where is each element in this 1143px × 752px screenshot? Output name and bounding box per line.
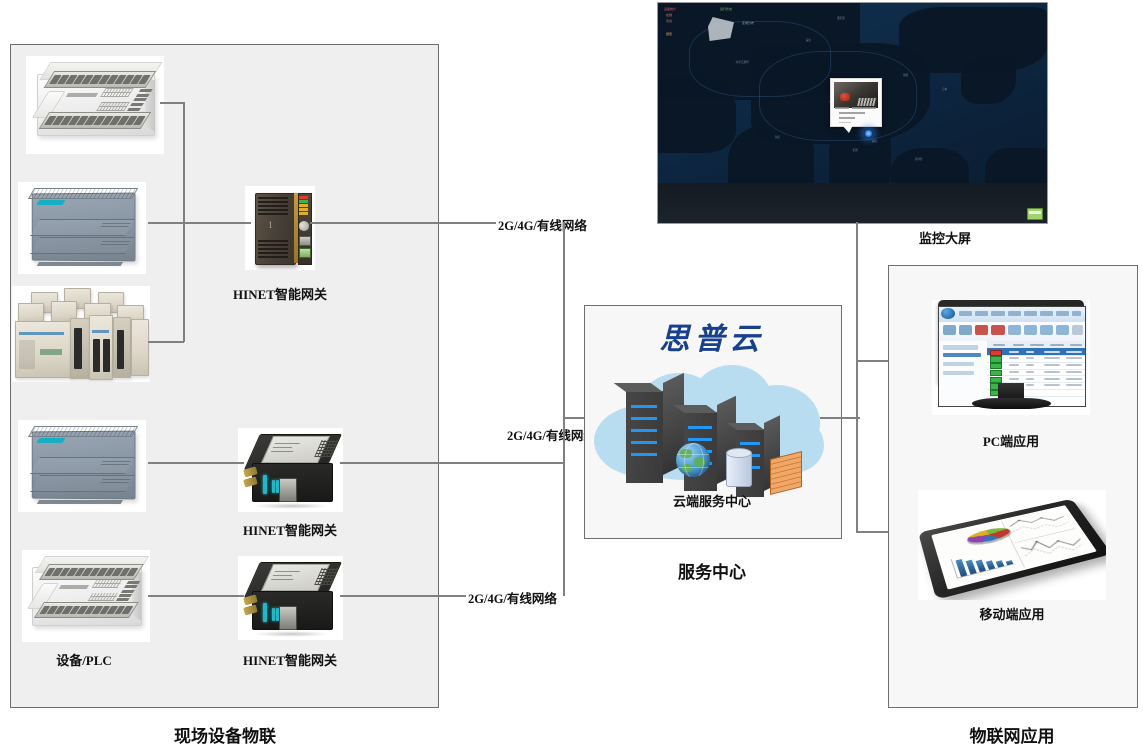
app-logo-icon [941,308,954,319]
network-label-1: 2G/4G/有线网络 [496,215,589,234]
hud-left-title: 设备统计 [664,7,676,11]
plc-graphic [18,182,146,274]
globe-icon [676,443,710,477]
gateway-hinet-box-1-label: HINET智能网关 [215,520,365,539]
screen-taskbar [658,183,1047,223]
apps-trunk-vertical [856,222,858,532]
device-siemens-plc-1 [18,182,146,274]
device-siemens-plc-2 [18,420,146,512]
app-mobile-label: 移动端应用 [918,604,1106,623]
service-center-caption: 服务中心 [584,558,840,583]
link-plc1-bus [160,102,184,104]
hud-row-offline: 离线 [666,19,672,23]
popup-text-line [839,122,851,124]
popup-device-photo [834,82,878,108]
database-icon [726,451,752,487]
gateway-hinet-box-1 [238,428,343,512]
device-mitsubishi-plc-2 [22,550,150,642]
link-plc3-bus [148,341,184,343]
gateway-graphic: 1 [245,186,315,270]
device-plc-caption: 设备/PLC [24,650,144,669]
device-plc-rack-group [12,286,150,382]
map-device-popup[interactable] [830,78,882,127]
device-mitsubishi-plc-1 [26,56,164,154]
popup-text-line [852,107,876,109]
map-landmass [961,56,1015,104]
gateway-hinet-box-2-label: HINET智能网关 [215,650,365,669]
map-label: 日本 [942,87,947,91]
plc-graphic [18,420,146,512]
rack-graphic [12,286,150,382]
tablet-graphic [918,490,1106,600]
map-label: 菲律宾 [915,157,923,161]
cloud-service-caption: 云端服务中心 [584,491,840,510]
gateway-graphic [238,428,343,512]
network-label-3: 2G/4G/有线网络 [466,588,559,607]
gateway-hinet-box-2 [238,556,343,640]
app-mobile-tablet [918,490,1106,600]
map-label: 俄罗斯 [837,16,845,20]
hud-row-online: 在线 [666,13,672,17]
link-plc2-bus [148,222,184,224]
map-label: 越南 [872,139,877,143]
link-gateway3-network [340,595,466,597]
tablet-screen [931,505,1096,589]
line-chart [931,505,1096,589]
map-label: 泰国 [853,148,858,152]
field-zone-caption: 现场设备物联 [130,722,320,747]
gateway-graphic [238,556,343,640]
link-gateway1-network [310,222,500,224]
gateway-hinet-din-label: HINET智能网关 [205,284,355,303]
big-screen-caption: 监控大屏 [855,228,1035,247]
tray-icon[interactable] [1027,208,1043,220]
link-bus-gateway1 [183,222,251,224]
hud-right-title: 运行状态 [720,7,732,11]
map-label: 印度 [775,135,780,139]
monitoring-big-screen: 设备统计 运行状态 在线 离线 报警 区域分布 蒙古 中国 日本 韩国 印度 俄… [657,2,1048,224]
popup-text-line [839,117,855,119]
popup-text-line [839,112,865,114]
map-label: 韩国 [903,73,908,77]
map-device-blip[interactable] [864,129,873,138]
link-plc4-gateway2 [148,462,244,464]
popup-text-line [835,107,849,109]
firewall-icon [770,451,802,495]
map-hud-overlay: 设备统计 运行状态 在线 离线 报警 区域分布 [664,7,814,47]
network-trunk-vertical [563,222,565,596]
cloud-graphic: 思普云 [584,305,840,537]
plc-graphic [22,550,150,642]
app-pc-label: PC端应用 [932,431,1090,450]
cloud-logo: 思普云 [584,314,840,358]
link-gateway2-network [340,462,564,464]
hud-sub-title: 区域分布 [742,21,754,25]
diagram-canvas: 设备/PLC 1 HINET智能网关 [0,0,1143,752]
link-plc5-gateway3 [148,595,244,597]
monitor-graphic [932,300,1090,415]
map-label: 哈萨克斯坦 [736,60,749,64]
app-pc-monitor [932,300,1090,415]
plc-graphic [26,56,164,154]
gateway-hinet-din: 1 [245,186,315,270]
hud-row-alarm: 报警 [666,32,672,36]
link-cloud-apps [820,417,860,419]
map-label: 蒙古 [806,38,811,42]
hud-region-polygon [708,17,734,41]
apps-zone-caption: 物联网应用 [917,722,1107,747]
